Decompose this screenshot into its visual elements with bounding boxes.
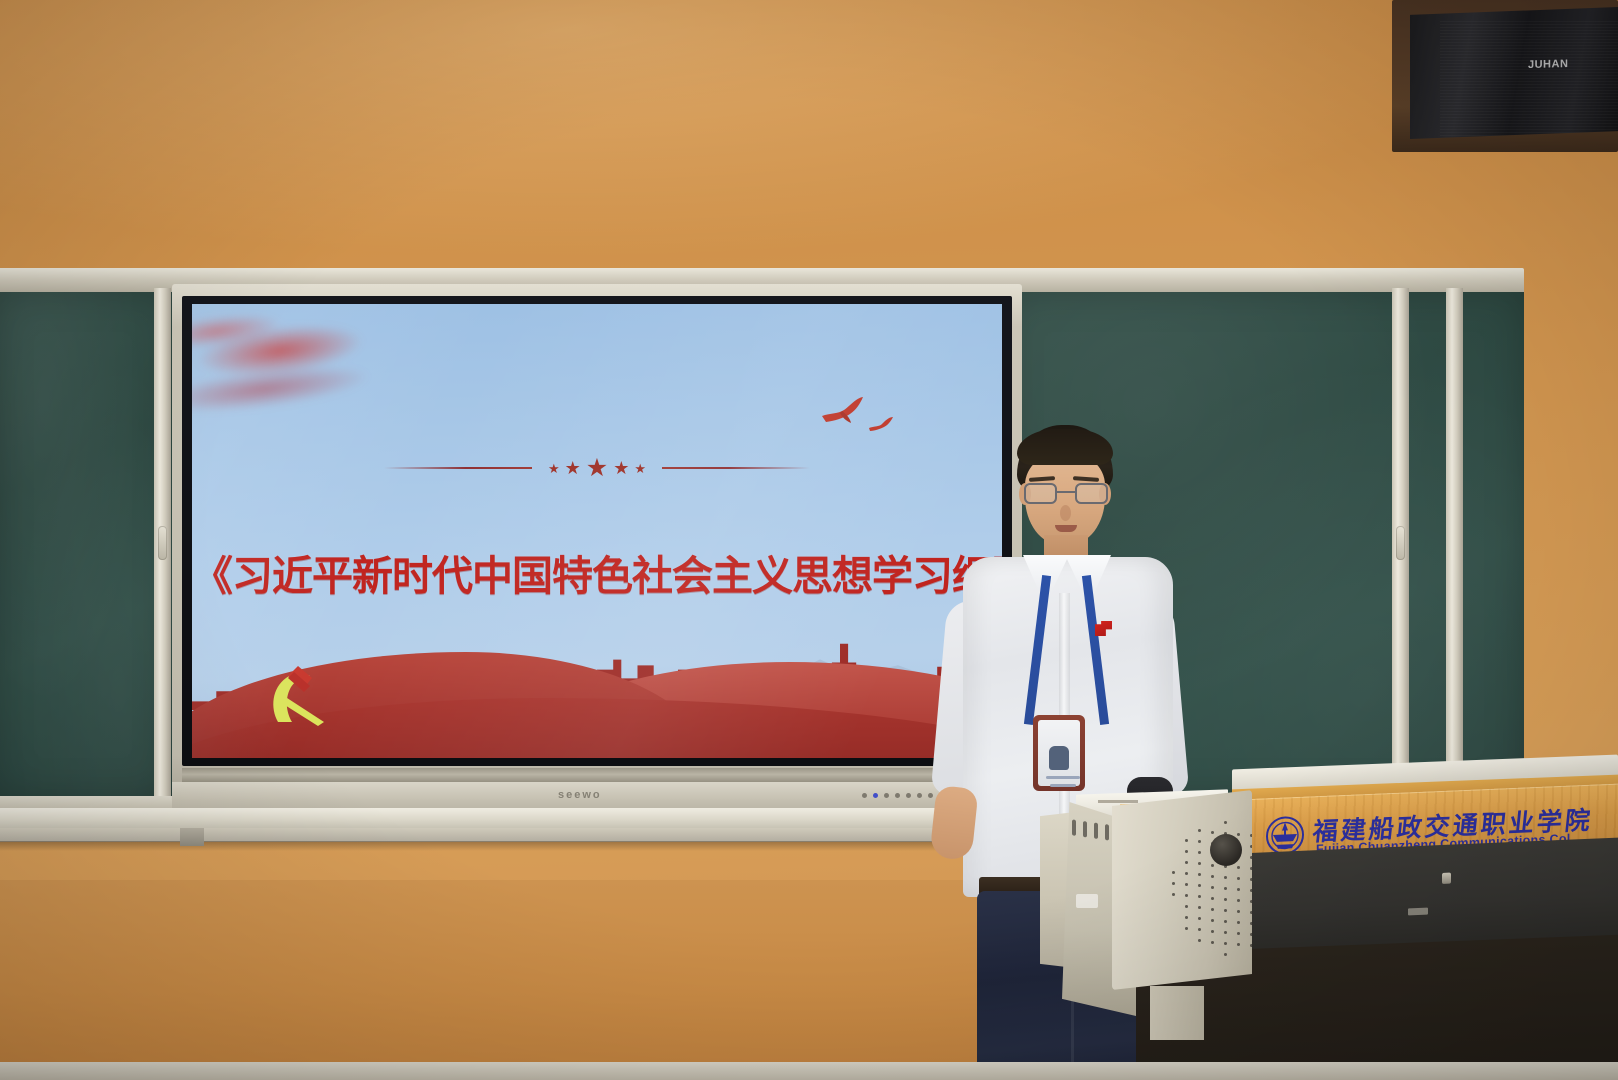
vent-slot-2 xyxy=(1083,821,1087,838)
person-mouth xyxy=(1055,525,1077,532)
perforation-dot xyxy=(1211,941,1214,944)
perforation-dot xyxy=(1224,898,1227,901)
slide-flag-ribbon xyxy=(192,304,446,454)
perforation-dot xyxy=(1172,871,1175,874)
blackboard-slide-rail-far-right[interactable] xyxy=(1446,288,1463,802)
perforation-dot xyxy=(1185,894,1188,897)
perforation-dot xyxy=(1198,851,1201,854)
wall-speaker: JUHAN xyxy=(1392,0,1618,152)
blackboard-slide-rail-left[interactable] xyxy=(154,288,171,802)
perforation-dot xyxy=(1237,921,1240,924)
podium-speaker-box xyxy=(1062,790,1252,1040)
slide-title: 《习近平新时代中国特色社会主义思想学习纲要》 xyxy=(192,542,1002,602)
speaker-brand-label: JUHAN xyxy=(1528,57,1608,73)
perforation-dot xyxy=(1172,893,1175,896)
blackboard-panel-left xyxy=(0,292,172,798)
perforation-dot xyxy=(1211,897,1214,900)
speaker-grille xyxy=(1440,21,1618,137)
perforation-dot xyxy=(1198,873,1201,876)
speaker-vent-slots xyxy=(1072,819,1109,840)
deco-line-left xyxy=(384,467,532,469)
star-icon-4: ★ xyxy=(613,459,629,477)
perforation-dot xyxy=(1224,920,1227,923)
perforation-dot xyxy=(1237,899,1240,902)
rail-latch-left[interactable] xyxy=(158,526,167,560)
glasses-lens-right xyxy=(1075,483,1108,504)
podium-cabinet-lock[interactable] xyxy=(1442,873,1451,884)
perforation-dot xyxy=(1198,917,1201,920)
perforation-dot xyxy=(1198,928,1201,931)
perforation-dot xyxy=(1198,939,1201,942)
podium-speaker-post xyxy=(1150,986,1204,1040)
perforation-dot xyxy=(1185,861,1188,864)
indicator-dot-4 xyxy=(895,793,900,798)
star-icon-3: ★ xyxy=(586,456,608,481)
vent-slot-4 xyxy=(1105,824,1109,841)
display-brand-label: seewo xyxy=(558,789,602,801)
classroom-scene: JUHAN xyxy=(0,0,1618,1080)
speaker-body xyxy=(1410,7,1618,139)
perforation-dot xyxy=(1224,909,1227,912)
person-nose xyxy=(1060,505,1071,521)
perforation-dot xyxy=(1198,906,1201,909)
perforation-dot xyxy=(1211,875,1214,878)
vent-slot-3 xyxy=(1094,822,1098,839)
perforation-dot xyxy=(1237,932,1240,935)
perforation-dot xyxy=(1224,887,1227,890)
glasses-icon xyxy=(1021,483,1111,507)
perforation-dot xyxy=(1237,833,1240,836)
perforation-dot xyxy=(1211,886,1214,889)
display-screen[interactable]: ★ ★ ★ ★ ★ 《习近平新时代中国特色社会主义思想学习纲要》 xyxy=(192,304,1002,758)
perforation-dot xyxy=(1237,866,1240,869)
perforation-dot xyxy=(1198,840,1201,843)
perforation-dot xyxy=(1198,862,1201,865)
perforation-dot xyxy=(1198,829,1201,832)
perforation-dot xyxy=(1172,882,1175,885)
perforation-dot xyxy=(1185,927,1188,930)
vent-slot-1 xyxy=(1072,819,1076,836)
perforation-dot xyxy=(1224,953,1227,956)
perforation-dot xyxy=(1185,839,1188,842)
tray-bracket-left xyxy=(180,828,204,846)
slide-artwork xyxy=(192,598,1002,758)
wall-surface xyxy=(0,0,1618,290)
perforation-dot xyxy=(1185,916,1188,919)
perforation-dot xyxy=(1211,919,1214,922)
podium-cabinet-tag xyxy=(1408,908,1428,916)
star-icon-1: ★ xyxy=(548,462,560,475)
deco-line-right xyxy=(662,467,810,469)
hammer-and-sickle-emblem-icon xyxy=(264,656,346,726)
perforation-dot xyxy=(1224,876,1227,879)
rail-latch-right[interactable] xyxy=(1396,526,1405,560)
blackboard-slide-rail-right[interactable] xyxy=(1392,288,1409,802)
dove-icon-large xyxy=(820,396,866,426)
star-icon-5: ★ xyxy=(634,462,646,475)
person-hair-front xyxy=(1017,429,1113,465)
perforation-dot xyxy=(1237,910,1240,913)
perforation-dot xyxy=(1198,884,1201,887)
slide-decoration-row: ★ ★ ★ ★ ★ xyxy=(192,454,1002,482)
perforation-dot xyxy=(1224,942,1227,945)
perforation-dot xyxy=(1211,930,1214,933)
perforation-dot xyxy=(1237,943,1240,946)
deco-stars: ★ ★ ★ ★ ★ xyxy=(548,456,646,481)
star-icon-2: ★ xyxy=(565,459,581,477)
floor-baseboard xyxy=(0,1062,1618,1080)
perforation-dot xyxy=(1224,931,1227,934)
podium-speaker-label xyxy=(1076,894,1098,908)
perforation-dot xyxy=(1211,908,1214,911)
perforation-dot xyxy=(1211,864,1214,867)
perforation-dot xyxy=(1185,872,1188,875)
perforation-dot xyxy=(1185,905,1188,908)
indicator-dot-power[interactable] xyxy=(873,793,878,798)
podium-speaker-front xyxy=(1112,790,1252,990)
perforation-dot xyxy=(1237,877,1240,880)
indicator-dot-3 xyxy=(884,793,889,798)
perforation-dot xyxy=(1211,831,1214,834)
speaker-driver-cone xyxy=(1210,834,1242,866)
perforation-dot xyxy=(1224,821,1227,824)
indicator-dot-1 xyxy=(862,793,867,798)
perforation-dot xyxy=(1185,850,1188,853)
interactive-smart-display[interactable]: ★ ★ ★ ★ ★ 《习近平新时代中国特色社会主义思想学习纲要》 xyxy=(172,284,1022,820)
display-bezel: ★ ★ ★ ★ ★ 《习近平新时代中国特色社会主义思想学习纲要》 xyxy=(182,296,1012,766)
perforation-dot xyxy=(1237,888,1240,891)
glasses-bridge xyxy=(1057,491,1075,493)
perforation-dot xyxy=(1185,883,1188,886)
perforation-dot xyxy=(1198,895,1201,898)
dove-icon-small xyxy=(868,416,894,434)
glasses-lens-left xyxy=(1024,483,1057,504)
